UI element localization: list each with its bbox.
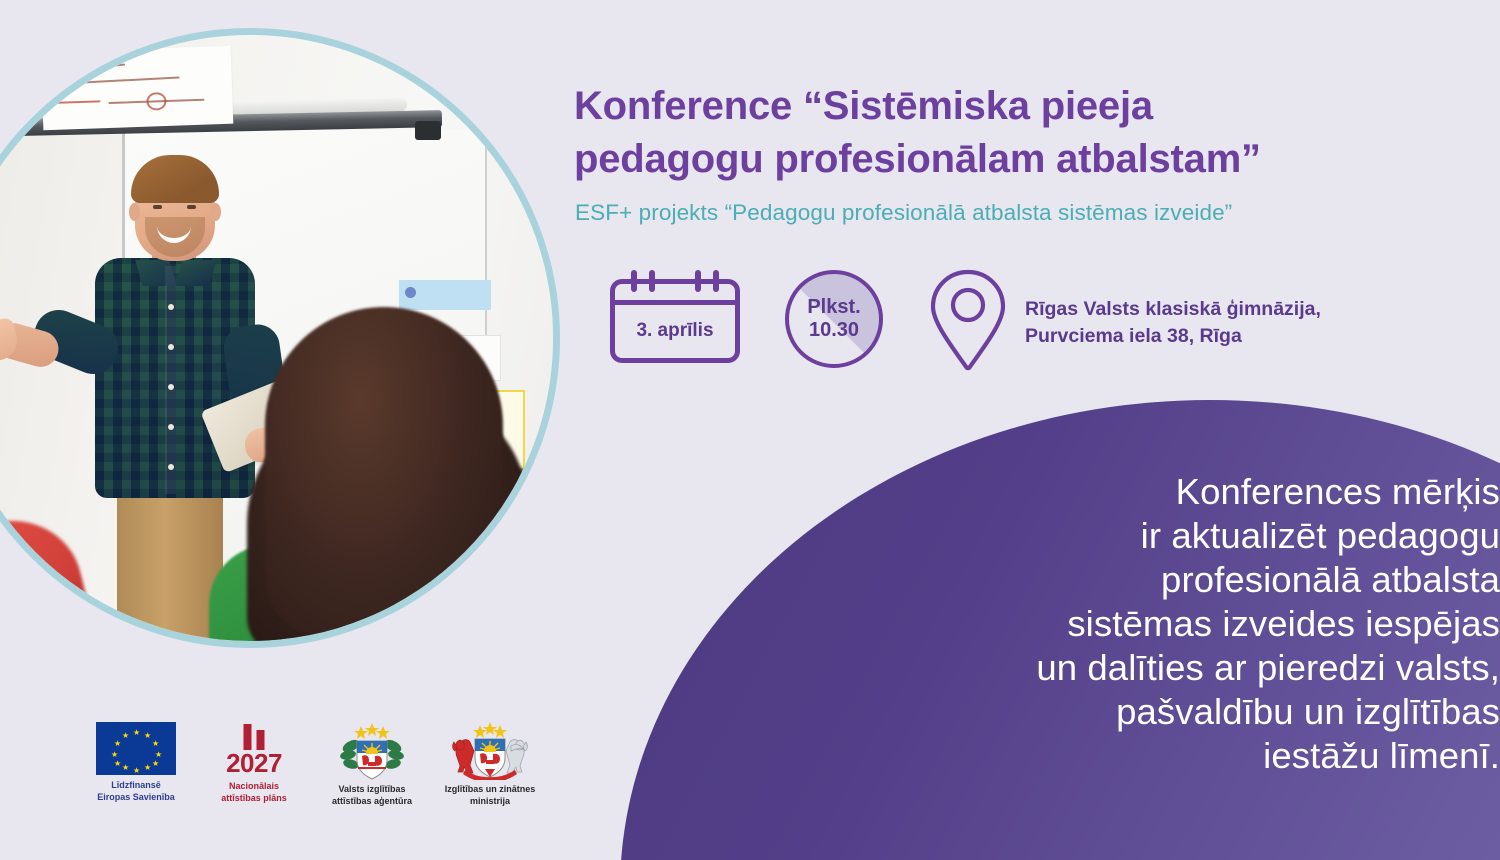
teacher-ear-right (210, 203, 221, 221)
shirt-button (168, 344, 174, 350)
nap-year-label: 2027 (206, 748, 302, 779)
rail-cap-right (415, 121, 441, 140)
nap-bar (244, 724, 252, 750)
viaa-logo-caption: Valsts izglītības attīstības aģentūra (324, 784, 420, 807)
handwriting-line (60, 76, 180, 84)
clock-icon: Plkst. 10.30 (785, 270, 883, 368)
conference-poster: Konferences mērķis ir aktualizēt pedagog… (0, 0, 1500, 860)
classroom-teacher-photo (0, 28, 560, 648)
page-subtitle: ESF+ projekts “Pedagogu profesionālā atb… (575, 198, 1425, 228)
latvia-small-coat-of-arms-icon (339, 722, 405, 780)
eu-logo-caption: Līdzfinansē Eiropas Savienība (88, 780, 184, 803)
calendar-ring (649, 270, 655, 292)
magnet-dot (405, 287, 416, 298)
shirt-button (168, 304, 174, 310)
handwriting-circle (146, 92, 167, 111)
handwriting-line (52, 100, 100, 104)
goal-panel: Konferences mērķis ir aktualizēt pedagog… (620, 400, 1500, 860)
page-title: Konference “Sistēmiska pieeja pedagogu p… (574, 80, 1424, 186)
izm-logo-caption: Izglītības un zinātnes ministrija (442, 784, 538, 807)
nap-bars (244, 724, 265, 750)
teacher-ear-left (129, 203, 140, 221)
goal-panel-text: Konferences mērķis ir aktualizēt pedagog… (860, 470, 1500, 778)
nap-logo-caption: Nacionālais attīstības plāns (206, 781, 302, 804)
event-location-label: Rīgas Valsts klasiskā ģimnāzija, Purvcie… (1025, 296, 1485, 350)
izm-coat-of-arms-logo: Izglītības un zinātnes ministrija (442, 722, 538, 807)
shirt-placket (165, 266, 176, 494)
eu-flag-logo: ★ ★ ★ ★ ★ ★ ★ ★ ★ ★ ★ ★ Līdzfinansē Eiro… (88, 722, 184, 803)
calendar-header-bar (614, 300, 736, 305)
student-hair (265, 307, 503, 637)
nap-2027-logo: 2027 Nacionālais attīstības plāns (206, 722, 302, 804)
teacher-trousers (117, 475, 223, 648)
calendar-ring (631, 270, 637, 292)
calendar-ring (695, 270, 701, 292)
shirt-button (168, 424, 174, 430)
funding-logos: ★ ★ ★ ★ ★ ★ ★ ★ ★ ★ ★ ★ Līdzfinansē Eiro… (88, 722, 538, 807)
latvia-full-coat-of-arms-icon (451, 722, 529, 780)
shirt-button (168, 384, 174, 390)
eu-flag-icon: ★ ★ ★ ★ ★ ★ ★ ★ ★ ★ ★ ★ (96, 722, 176, 775)
event-date-label: 3. aprīlis (615, 320, 735, 342)
viaa-coat-of-arms-logo: Valsts izglītības attīstības aģentūra (324, 722, 420, 807)
shirt-collar-right (175, 260, 216, 286)
calendar-icon: 3. aprīlis (610, 279, 740, 363)
teacher-eye-right (187, 205, 196, 209)
handwriting-line (55, 64, 125, 72)
flipchart-sheet (41, 46, 234, 131)
event-time-label: Plkst. 10.30 (807, 296, 860, 342)
nap-bar (257, 730, 265, 750)
shirt-button (168, 464, 174, 470)
nap-mark-icon: 2027 (206, 722, 302, 778)
calendar-ring (713, 270, 719, 292)
photo-scene (0, 35, 553, 641)
map-pin-icon (928, 268, 1008, 372)
teacher-eye-left (153, 205, 162, 209)
